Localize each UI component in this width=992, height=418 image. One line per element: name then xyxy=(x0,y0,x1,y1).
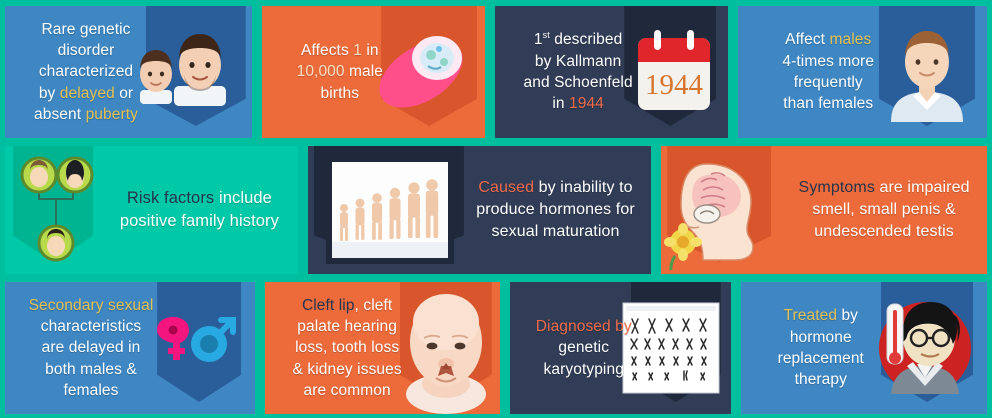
text-line: characterized xyxy=(17,61,155,82)
text-line: Caused by inability to xyxy=(466,177,645,199)
card-secondary-sexual-characteristics[interactable]: Secondary sexual characteristics are del… xyxy=(5,282,255,414)
infographic-board: Rare genetic disorder characterized by d… xyxy=(0,0,992,418)
text-line: undescended testis xyxy=(787,221,981,243)
card-risk-factors[interactable]: Risk factors include positive family his… xyxy=(5,146,298,274)
card-rare-genetic-disorder[interactable]: Rare genetic disorder characterized by d… xyxy=(5,6,252,138)
text-line: females xyxy=(17,380,165,401)
text-line: hormone xyxy=(757,327,885,348)
text-line: Treated by xyxy=(757,305,885,326)
text-line: Rare genetic xyxy=(17,19,155,40)
text-line: replacement xyxy=(757,348,885,369)
text-line: palate hearing xyxy=(279,316,415,337)
text-line: disorder xyxy=(17,40,155,61)
calendar-year: 1944 xyxy=(645,69,704,101)
card-text: Caused by inability to produce hormones … xyxy=(460,177,651,243)
text-line: characteristics xyxy=(17,316,165,337)
card-cause[interactable]: Caused by inability to produce hormones … xyxy=(308,146,651,274)
text-line: Risk factors include xyxy=(107,187,292,210)
text-line: by delayed or xyxy=(17,83,155,104)
card-text: Treated by hormone replacement therapy xyxy=(751,305,891,391)
card-text: 1st described by Kallmann and Schoenfeld… xyxy=(503,29,653,115)
text-line: by Kallmann xyxy=(509,51,647,72)
card-diagnosis[interactable]: Diagnosed by genetic karyotyping xyxy=(510,282,731,414)
text-line: Diagnosed by xyxy=(526,316,642,337)
text-line: 4-times more xyxy=(756,51,900,72)
card-text: Affect males 4-times more frequently tha… xyxy=(750,29,906,115)
text-line: loss, tooth loss xyxy=(279,337,415,358)
text-line: in 1944 xyxy=(509,93,647,114)
card-incidence[interactable]: Affects 1 in 10,000 male births xyxy=(262,6,485,138)
text-line: karyotyping xyxy=(526,359,642,380)
card-text: Rare genetic disorder characterized by d… xyxy=(11,19,161,126)
text-line: produce hormones for xyxy=(466,199,645,221)
text-line: Symptoms are impaired xyxy=(787,177,981,199)
text-line: births xyxy=(282,83,398,104)
card-symptoms[interactable]: Symptoms are impaired smell, small penis… xyxy=(661,146,987,274)
card-text: Cleft lip, cleft palate hearing loss, to… xyxy=(273,295,421,402)
card-male-predominance[interactable]: Affect males 4-times more frequently tha… xyxy=(738,6,987,138)
card-text: Symptoms are impaired smell, small penis… xyxy=(781,177,987,243)
card-text: Secondary sexual characteristics are del… xyxy=(11,295,171,402)
text-line: than females xyxy=(756,93,900,114)
text-line: positive family history xyxy=(107,210,292,233)
text-line: genetic xyxy=(526,337,642,358)
text-line: and Schoenfeld xyxy=(509,72,647,93)
infographic-row-1: Rare genetic disorder characterized by d… xyxy=(0,6,992,138)
text-line: Secondary sexual xyxy=(17,295,165,316)
text-line: therapy xyxy=(757,369,885,390)
card-text: Risk factors include positive family his… xyxy=(101,187,298,233)
text-line: are common xyxy=(279,380,415,401)
infographic-row-3: Secondary sexual characteristics are del… xyxy=(0,282,992,414)
card-first-described[interactable]: 1944 1st described by Kallmann and Schoe… xyxy=(495,6,728,138)
text-line: Affect males xyxy=(756,29,900,50)
card-text: Affects 1 in 10,000 male births xyxy=(276,40,404,104)
text-line: are delayed in xyxy=(17,337,165,358)
text-line: Cleft lip, cleft xyxy=(279,295,415,316)
card-associated-features[interactable]: Cleft lip, cleft palate hearing loss, to… xyxy=(265,282,500,414)
text-line: smell, small penis & xyxy=(787,199,981,221)
card-text: Diagnosed by genetic karyotyping xyxy=(520,316,648,380)
card-treatment[interactable]: Treated by hormone replacement therapy xyxy=(741,282,987,414)
text-line: sexual maturation xyxy=(466,221,645,243)
infographic-row-2: Risk factors include positive family his… xyxy=(0,146,992,274)
text-line: both males & xyxy=(17,359,165,380)
text-line: absent puberty xyxy=(17,104,155,125)
text-line: & kidney issues xyxy=(279,359,415,380)
text-line: frequently xyxy=(756,72,900,93)
text-line: 1st described xyxy=(509,29,647,51)
text-line: 10,000 male xyxy=(282,61,398,82)
text-line: Affects 1 in xyxy=(282,40,398,61)
